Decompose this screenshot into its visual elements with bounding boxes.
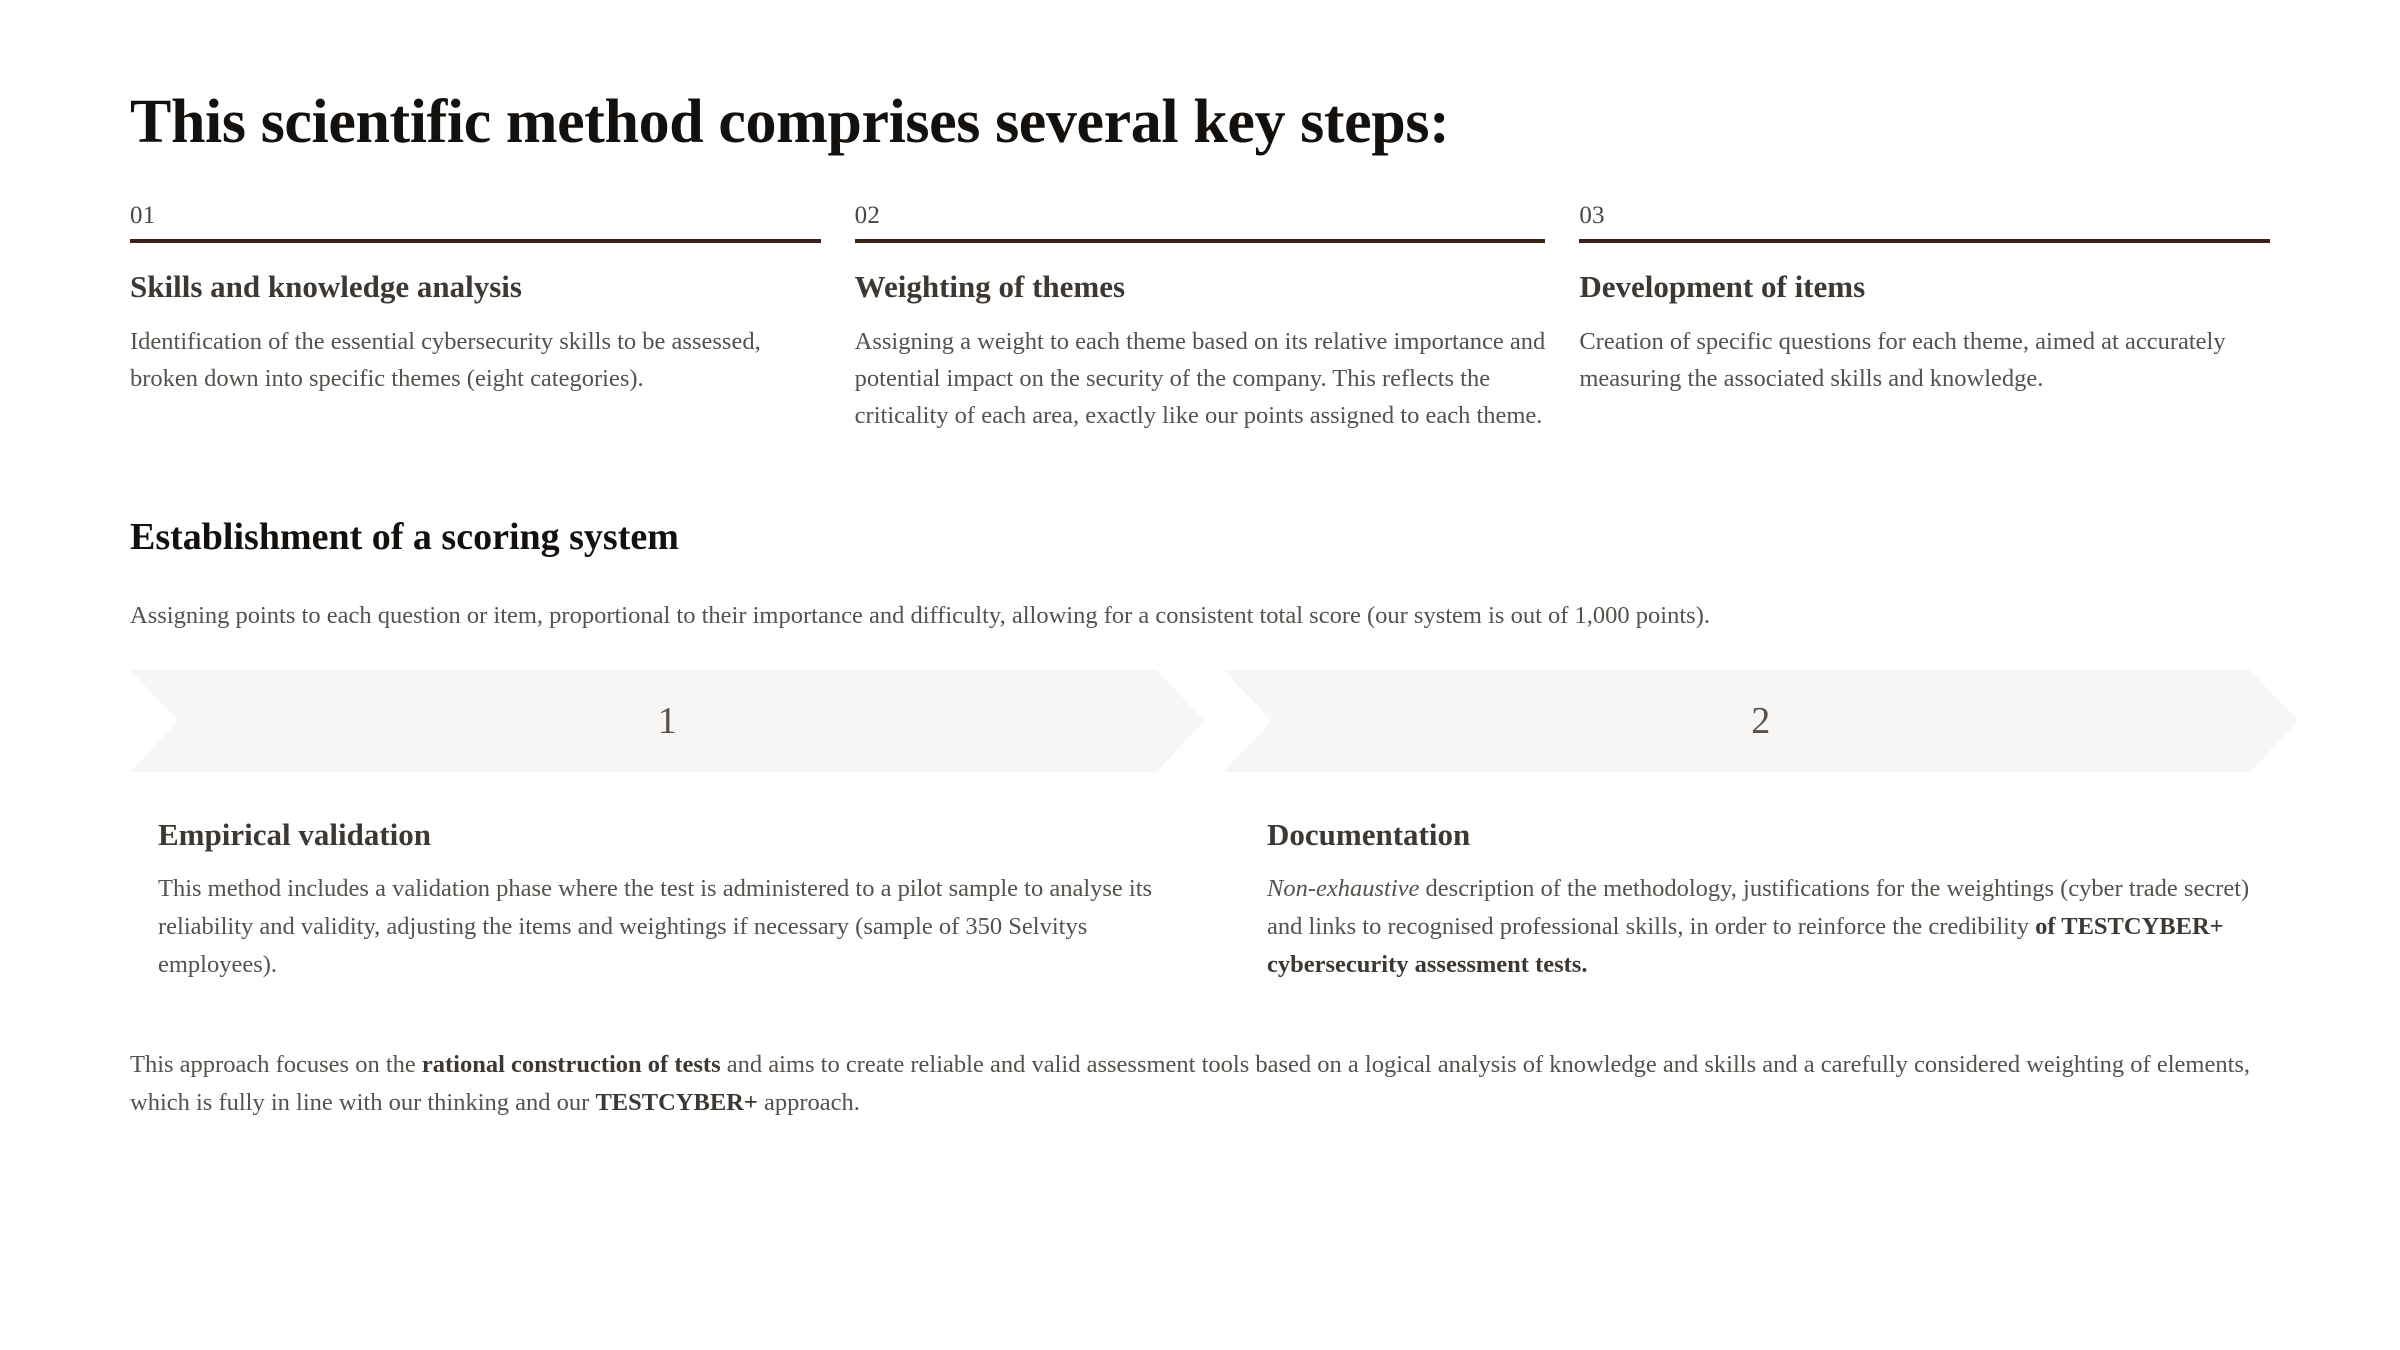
closing-bold-1: rational construction of tests <box>422 1051 721 1078</box>
closing-part-3: approach. <box>758 1089 860 1116</box>
chevron-number: 1 <box>658 702 677 740</box>
closing-bold-2: TESTCYBER+ <box>595 1089 757 1116</box>
chevron-step-1: 1 <box>130 670 1205 772</box>
step-number: 03 <box>1579 203 2270 239</box>
step-card-02: 02 Weighting of themes Assigning a weigh… <box>855 203 1546 434</box>
step-number: 01 <box>130 203 821 239</box>
step-divider-rule <box>130 239 821 243</box>
detail-italic-lead: Non-exhaustive <box>1267 875 1419 902</box>
detail-title: Documentation <box>1267 816 2270 853</box>
chevron-number: 2 <box>1751 702 1770 740</box>
chevron-step-2: 2 <box>1224 670 2299 772</box>
step-description: Assigning a weight to each theme based o… <box>855 323 1546 435</box>
step-divider-rule <box>855 239 1546 243</box>
detail-row: Empirical validation This method include… <box>130 816 2270 984</box>
step-description: Identification of the essential cybersec… <box>130 323 821 397</box>
closing-paragraph: This approach focuses on the rational co… <box>130 1046 2270 1122</box>
step-number: 02 <box>855 203 1546 239</box>
steps-row: 01 Skills and knowledge analysis Identif… <box>130 203 2270 434</box>
step-card-01: 01 Skills and knowledge analysis Identif… <box>130 203 821 434</box>
detail-card-documentation: Documentation Non-exhaustive description… <box>1239 816 2270 984</box>
step-divider-rule <box>1579 239 2270 243</box>
step-card-03: 03 Development of items Creation of spec… <box>1579 203 2270 434</box>
detail-description: This method includes a validation phase … <box>158 870 1161 984</box>
detail-title: Empirical validation <box>158 816 1161 853</box>
page-title: This scientific method comprises several… <box>130 0 2270 156</box>
step-title: Weighting of themes <box>855 268 1546 307</box>
detail-description: Non-exhaustive description of the method… <box>1267 870 2270 984</box>
closing-part-1: This approach focuses on the <box>130 1051 422 1078</box>
document-page: This scientific method comprises several… <box>0 0 2400 1350</box>
step-title: Development of items <box>1579 268 2270 307</box>
step-description: Creation of specific questions for each … <box>1579 323 2270 397</box>
step-title: Skills and knowledge analysis <box>130 268 821 307</box>
chevron-banner: 1 2 <box>130 670 2298 772</box>
detail-card-empirical-validation: Empirical validation This method include… <box>130 816 1161 984</box>
section-heading-scoring: Establishment of a scoring system <box>130 515 2270 561</box>
section-lead-paragraph: Assigning points to each question or ite… <box>130 598 2270 635</box>
detail-text: This method includes a validation phase … <box>158 875 1152 978</box>
